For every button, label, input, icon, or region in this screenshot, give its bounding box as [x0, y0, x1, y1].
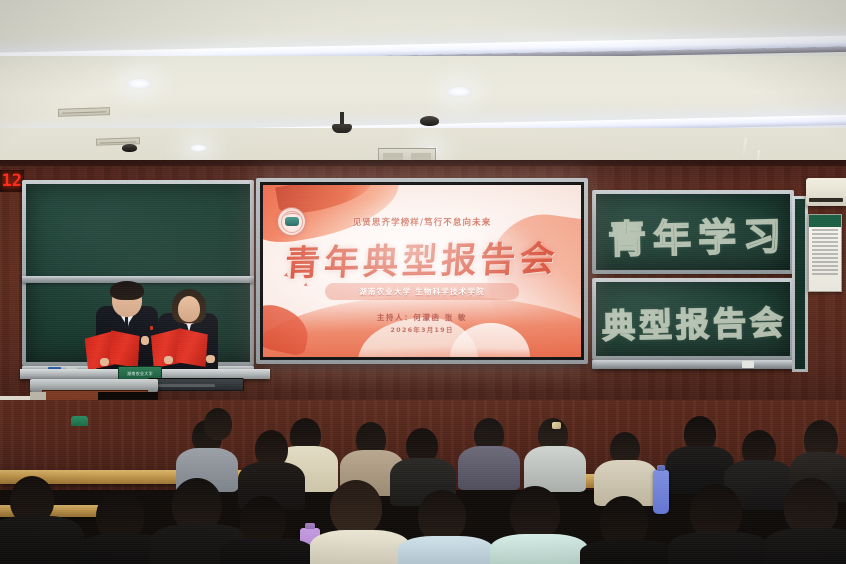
notice-board-line	[812, 241, 838, 243]
notice-board-line	[812, 265, 838, 267]
slide-date: 2026年3月19日	[263, 324, 581, 334]
host-male-folder-right	[109, 330, 140, 367]
room-number-label: 12	[2, 171, 24, 191]
notice-board-line	[812, 269, 838, 271]
student-head	[418, 490, 466, 542]
chalk-tray-right	[592, 360, 794, 369]
projector-icon	[332, 124, 352, 133]
host-female-hand	[164, 356, 173, 364]
student-body	[220, 538, 314, 564]
projection-screen-bezel: ➤ ➤ ➤ ➤ 见贤思齐学榜样/笃行不怠向未来 青年典型报告会 湖南农业大学 生…	[260, 182, 584, 360]
student-body	[0, 516, 84, 564]
notice-board-line	[812, 273, 838, 275]
blackboard-right-top: 青年学习	[592, 190, 794, 274]
downlight-icon	[189, 144, 208, 152]
notice-board-line	[812, 261, 838, 263]
water-bottle-blue	[653, 470, 669, 514]
notice-board-line	[812, 233, 838, 235]
blackboard-right-bottom: 典型报告会	[592, 278, 794, 360]
student-body	[490, 534, 588, 564]
downlight-icon	[126, 78, 152, 89]
notice-board-line	[812, 249, 838, 251]
lectern-monitor-label: 湖南农业大学	[127, 371, 153, 376]
student-head	[204, 408, 232, 440]
student-body	[310, 530, 410, 564]
host-male-hair	[110, 281, 144, 300]
slide-organization-label: 湖南农业大学 生物科学技术学院	[359, 286, 485, 297]
dome-camera-icon	[420, 116, 439, 126]
room-number-sign: 12	[0, 170, 24, 192]
notice-board-header	[809, 215, 841, 227]
slide-host-line: 主持人：何濛函 张 敏	[263, 312, 581, 323]
slide-organization-banner: 湖南农业大学 生物科学技术学院	[325, 283, 519, 300]
host-female-face	[178, 296, 200, 322]
host-male-lapel-pin	[150, 326, 153, 330]
notice-board-line	[812, 229, 838, 231]
student-body	[458, 446, 520, 490]
tray-item	[742, 361, 754, 368]
hair-clip	[552, 422, 561, 429]
host-female-folder-right	[176, 328, 209, 367]
chalkboard-text-top: 青年学习	[607, 205, 788, 264]
lecture-hall-photo: 12 青年学习 典型报告会	[0, 0, 846, 564]
blackboard-left-divider	[22, 276, 254, 283]
notice-board-line	[812, 237, 838, 239]
air-conditioner-unit	[806, 178, 846, 206]
student-body	[398, 536, 494, 564]
slide-title: 青年典型报告会	[263, 230, 581, 287]
host-male-hand	[141, 336, 149, 345]
presentation-slide: ➤ ➤ ➤ ➤ 见贤思齐学榜样/笃行不怠向未来 青年典型报告会 湖南农业大学 生…	[263, 185, 581, 357]
lectern-control-panel[interactable]	[148, 378, 244, 391]
student-body	[668, 532, 770, 564]
notice-board	[808, 214, 842, 292]
dome-camera-icon	[122, 144, 137, 152]
notice-board-line	[812, 245, 838, 247]
notice-board-line	[812, 253, 838, 255]
chalkboard-text-bottom: 典型报告会	[602, 296, 788, 348]
window-right	[792, 196, 808, 372]
slide-subtitle: 见贤思齐学榜样/笃行不怠向未来	[263, 216, 581, 228]
student-head	[330, 480, 382, 536]
notice-board-line	[812, 257, 838, 259]
student-body	[580, 540, 676, 564]
student-head	[510, 486, 560, 540]
host-female-hand	[206, 355, 215, 363]
host-male-hand	[100, 358, 109, 366]
blackboard-right-top-surface: 青年学习	[596, 194, 790, 270]
downlight-icon	[446, 86, 472, 97]
blackboard-right-bottom-surface: 典型报告会	[596, 282, 790, 356]
projection-screen-frame: ➤ ➤ ➤ ➤ 见贤思齐学榜样/笃行不怠向未来 青年典型报告会 湖南农业大学 生…	[256, 178, 588, 364]
student-body	[764, 528, 846, 564]
